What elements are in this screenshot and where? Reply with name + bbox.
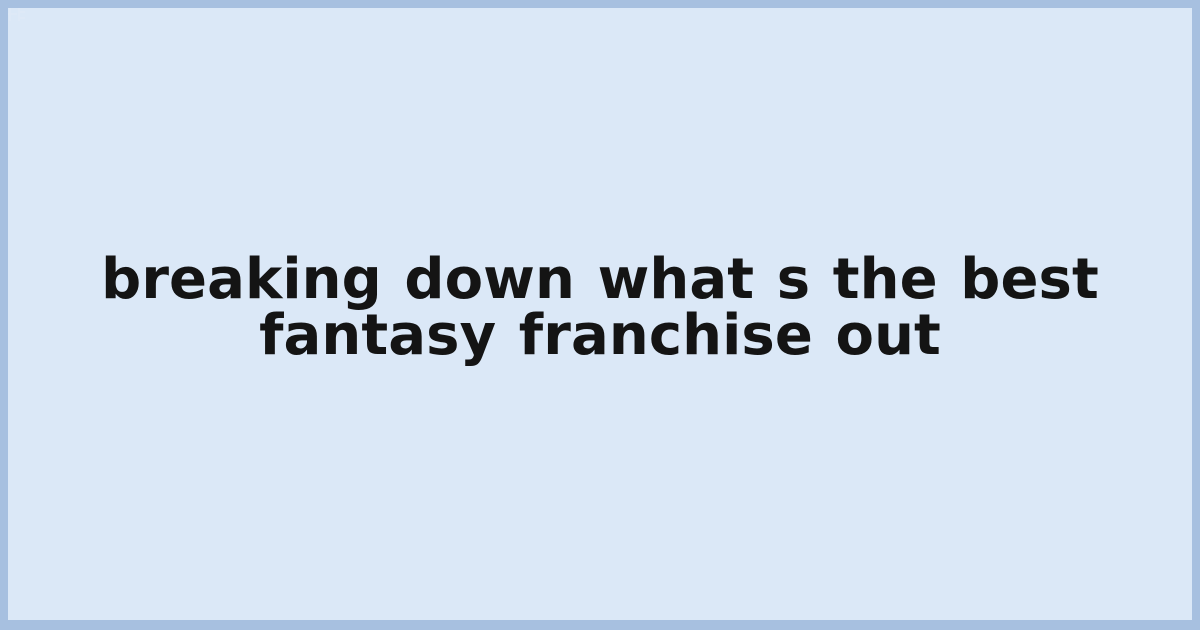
- corner-artifact-icon: [8, 8, 26, 22]
- headline-text: breaking down what s the best fantasy fr…: [70, 252, 1130, 364]
- card-canvas: breaking down what s the best fantasy fr…: [8, 8, 1192, 620]
- share-card: breaking down what s the best fantasy fr…: [0, 0, 1200, 630]
- headline-container: breaking down what s the best fantasy fr…: [70, 252, 1130, 376]
